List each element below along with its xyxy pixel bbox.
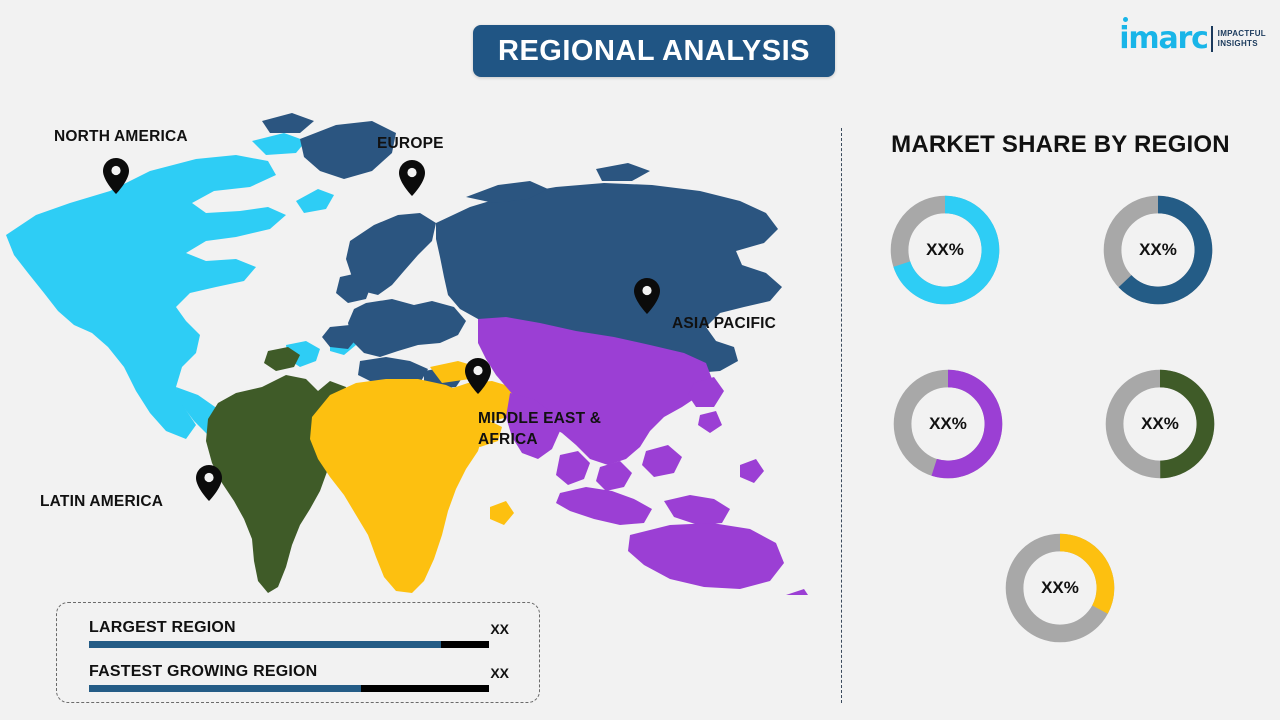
donut-chart-asia-pacific[interactable]: XX% <box>888 364 1008 484</box>
donut-value-label: XX% <box>888 364 1008 484</box>
map-label-latin-america: LATIN AMERICA <box>40 491 163 512</box>
donut-chart-latin-america[interactable]: XX% <box>1100 364 1220 484</box>
donut-chart-europe[interactable]: XX% <box>1098 190 1218 310</box>
logo-word-text: imarc <box>1119 21 1207 56</box>
logo-tagline-line2: INSIGHTS <box>1218 39 1266 49</box>
donut-chart-north-america[interactable]: XX% <box>885 190 1005 310</box>
map-label-asia-pacific: ASIA PACIFIC <box>672 313 776 334</box>
donut-value-label: XX% <box>1100 364 1220 484</box>
map-pin-europe-icon[interactable] <box>399 160 425 196</box>
map-region-asia-pacific[interactable] <box>478 317 812 595</box>
legend-value: XX <box>490 665 509 681</box>
donut-chart-middle-east-africa[interactable]: XX% <box>1000 528 1120 648</box>
donut-value-label: XX% <box>1098 190 1218 310</box>
imarc-logo: imarc IMPACTFUL INSIGHTS <box>1119 22 1266 56</box>
map-region-middle-east-africa[interactable] <box>310 361 522 593</box>
legend-label: LARGEST REGION <box>89 619 236 637</box>
logo-divider <box>1211 26 1213 52</box>
map-pin-north-america-icon[interactable] <box>103 158 129 194</box>
infographic-root: REGIONAL ANALYSIS imarc IMPACTFUL INSIGH… <box>0 0 1280 720</box>
map-label-middle-east-africa: MIDDLE EAST & AFRICA <box>478 408 601 450</box>
map-pin-latin-america-icon[interactable] <box>196 465 222 501</box>
legend-bar-fill <box>89 641 441 648</box>
legend-row-largest-region: LARGEST REGION XX <box>89 619 509 648</box>
section-divider <box>841 128 842 703</box>
legend-row-fastest-growing-region: FASTEST GROWING REGION XX <box>89 663 509 692</box>
page-title-banner: REGIONAL ANALYSIS <box>473 25 835 77</box>
map-label-north-america: NORTH AMERICA <box>54 126 188 147</box>
page-title: REGIONAL ANALYSIS <box>498 35 810 68</box>
region-legend-box: LARGEST REGION XX FASTEST GROWING REGION… <box>56 602 540 703</box>
legend-bar-fill <box>89 685 361 692</box>
map-pin-middle-east-africa-icon[interactable] <box>465 358 491 394</box>
legend-value: XX <box>490 621 509 637</box>
legend-bar-track <box>89 641 489 648</box>
legend-bar-track <box>89 685 489 692</box>
market-share-title: MARKET SHARE BY REGION <box>841 131 1280 159</box>
legend-label: FASTEST GROWING REGION <box>89 663 317 681</box>
donut-value-label: XX% <box>1000 528 1120 648</box>
donut-value-label: XX% <box>885 190 1005 310</box>
logo-tagline-line1: IMPACTFUL <box>1218 29 1266 39</box>
logo-tagline: IMPACTFUL INSIGHTS <box>1218 29 1266 49</box>
logo-wordmark: imarc <box>1119 24 1207 54</box>
map-label-europe: EUROPE <box>377 133 444 154</box>
map-pin-asia-pacific-icon[interactable] <box>634 278 660 314</box>
